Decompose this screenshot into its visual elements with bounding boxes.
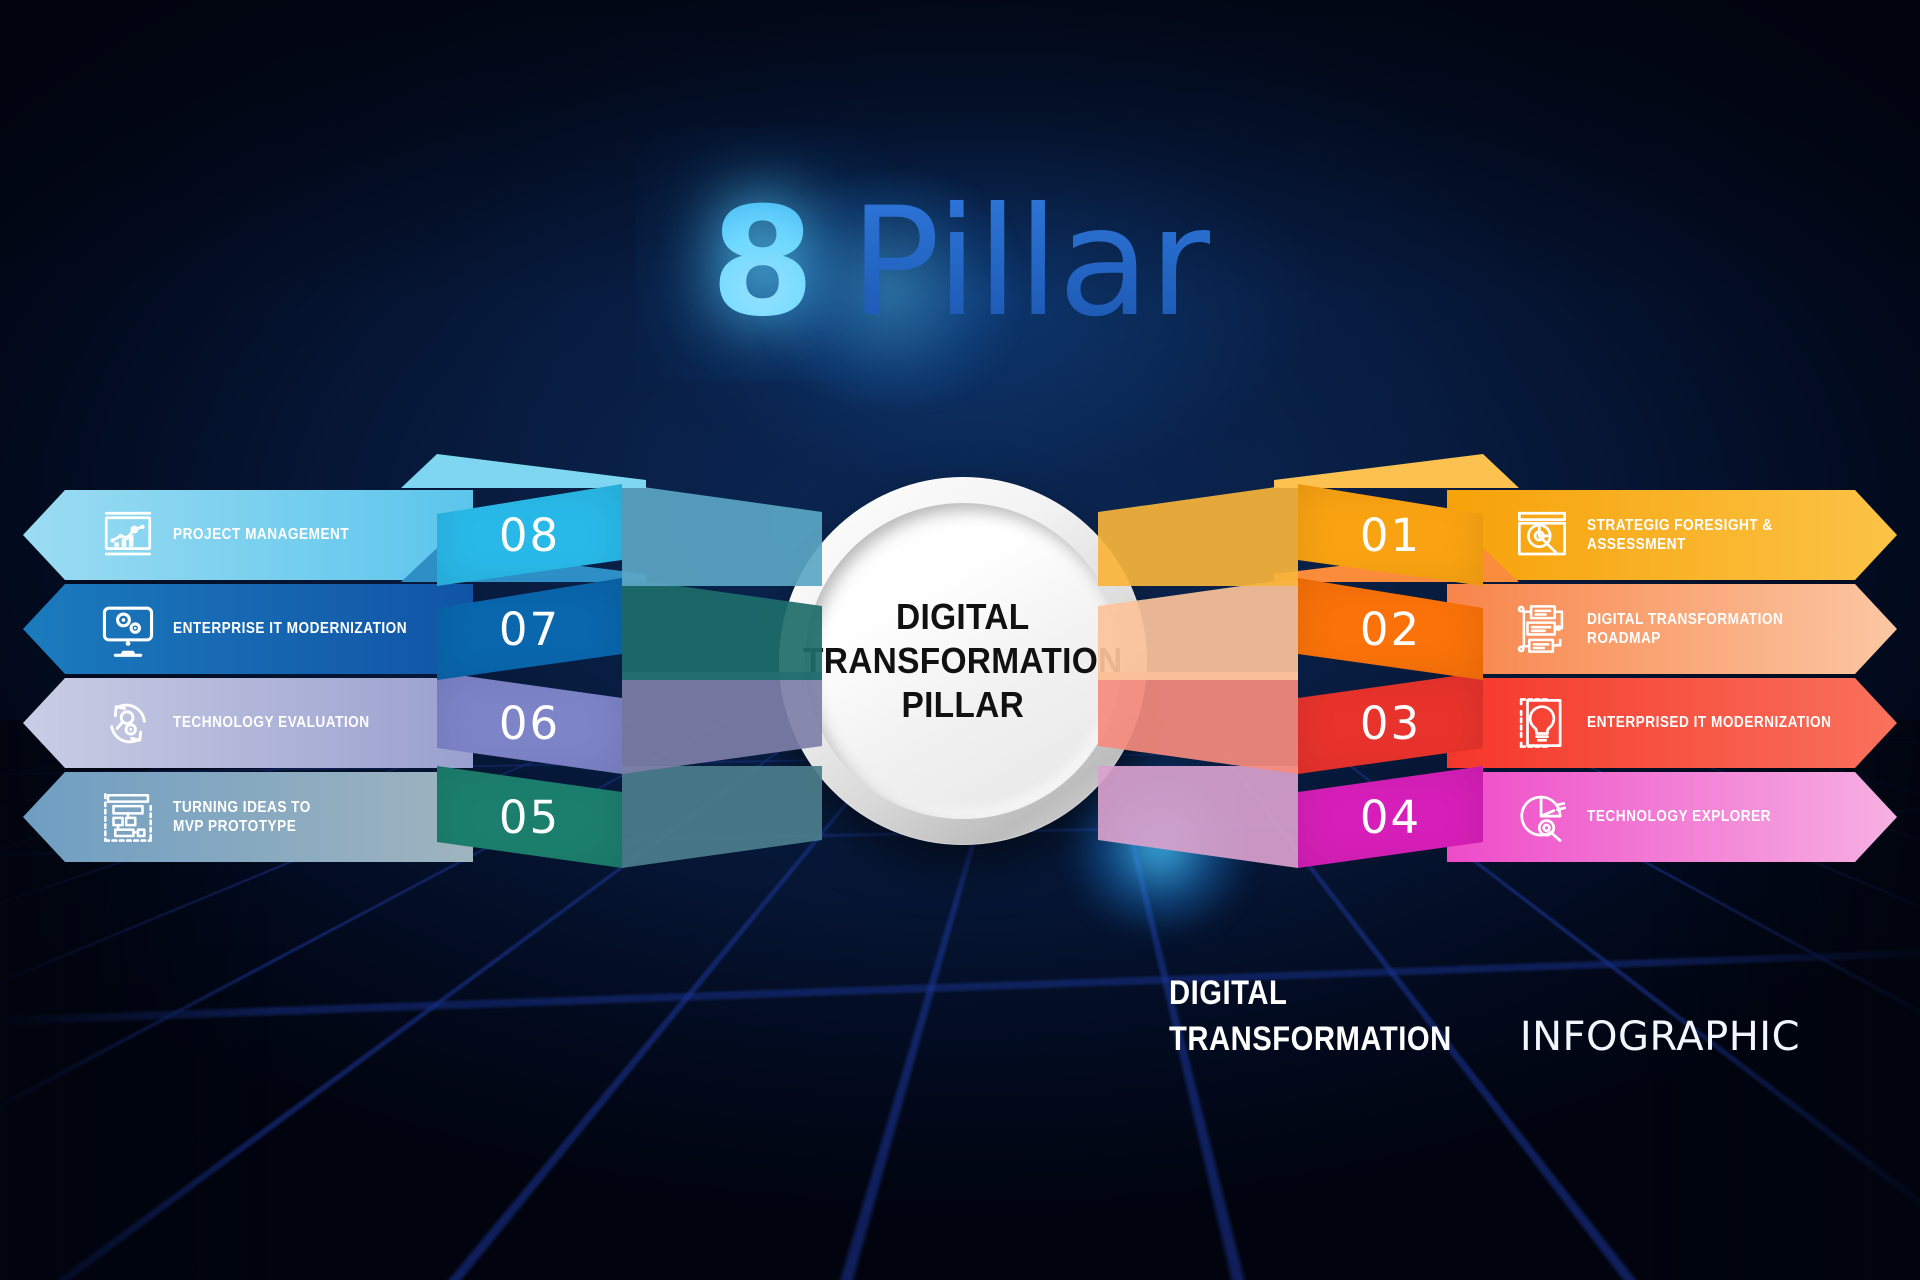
refresh-evaluate-icon [97, 692, 159, 754]
step-bar-01[interactable]: STRATEGIG FORESIGHT & ASSESSMENT [1447, 490, 1897, 580]
step-bar-03[interactable]: ENTERPRISED IT MODERNIZATION [1447, 678, 1897, 768]
center-circle-text: DIGITAL TRANSFORMATION PILLAR [803, 595, 1122, 727]
step-label-08: PROJECT MANAGEMENT [173, 525, 349, 544]
prism-side-face-01 [1098, 484, 1298, 586]
prism-front-face-01[interactable]: 01 [1298, 484, 1483, 586]
step-number-prism-06: 06 [437, 672, 622, 774]
prism-side-face-03 [1098, 672, 1298, 774]
center-line-2: TRANSFORMATION [803, 639, 1122, 683]
prism-front-face-03[interactable]: 03 [1298, 672, 1483, 774]
step-number-prism-02: 02 [1298, 578, 1483, 680]
step-number-01: 01 [1360, 509, 1421, 562]
prism-front-face-04[interactable]: 04 [1298, 766, 1483, 868]
step-bar-04[interactable]: TECHNOLOGY EXPLORER [1447, 772, 1897, 862]
step-label-01: STRATEGIG FORESIGHT & ASSESSMENT [1587, 516, 1860, 555]
step-bar-07[interactable]: ENTERPRISE IT MODERNIZATION [23, 584, 473, 674]
step-bar-02[interactable]: DIGITAL TRANSFORMATION ROADMAP [1447, 584, 1897, 674]
caption-line-2: TRANSFORMATION [1169, 1020, 1452, 1059]
chart-analytics-icon [97, 504, 159, 566]
window-pie-search-icon [1511, 504, 1573, 566]
prism-side-face-08 [622, 484, 822, 586]
step-number-07: 07 [499, 603, 560, 656]
caption-infographic: INFOGRAPHIC [1520, 1014, 1800, 1060]
step-number-03: 03 [1360, 697, 1421, 750]
prism-top-face-01 [1274, 454, 1519, 488]
step-number-prism-05: 05 [437, 766, 622, 868]
step-number-05: 05 [499, 791, 560, 844]
step-label-04: TECHNOLOGY EXPLORER [1587, 807, 1771, 826]
prism-side-face-06 [622, 672, 822, 774]
roadmap-flow-icon [1511, 598, 1573, 660]
step-label-02: DIGITAL TRANSFORMATION ROADMAP [1587, 610, 1860, 649]
prism-top-face-08 [401, 454, 646, 488]
step-number-prism-07: 07 [437, 578, 622, 680]
prism-front-face-08[interactable]: 08 [437, 484, 622, 586]
step-number-04: 04 [1360, 791, 1421, 844]
step-label-07: ENTERPRISE IT MODERNIZATION [173, 619, 407, 638]
step-number-prism-08: 08 [437, 484, 622, 586]
step-label-05: TURNING IDEAS TO MVP PROTOTYPE [173, 798, 311, 837]
step-number-prism-03: 03 [1298, 672, 1483, 774]
center-circle: DIGITAL TRANSFORMATION PILLAR [779, 477, 1147, 845]
prism-front-face-02[interactable]: 02 [1298, 578, 1483, 680]
step-number-prism-01: 01 [1298, 484, 1483, 586]
prism-side-face-05 [622, 766, 822, 868]
step-bar-06[interactable]: TECHNOLOGY EVALUATION [23, 678, 473, 768]
step-number-02: 02 [1360, 603, 1421, 656]
step-label-06: TECHNOLOGY EVALUATION [173, 713, 370, 732]
prism-front-face-06[interactable]: 06 [437, 672, 622, 774]
step-number-06: 06 [499, 697, 560, 750]
monitor-gears-icon [97, 598, 159, 660]
step-number-prism-04: 04 [1298, 766, 1483, 868]
prism-front-face-05[interactable]: 05 [437, 766, 622, 868]
caption-line-1: DIGITAL [1169, 973, 1712, 1014]
infographic-canvas: 8Pillar 08 PROJECT MANAGEMENT07 ENTERPRI… [0, 0, 1920, 1280]
step-bar-05[interactable]: TURNING IDEAS TO MVP PROTOTYPE [23, 772, 473, 862]
center-line-1: DIGITAL [803, 595, 1122, 639]
prism-front-face-07[interactable]: 07 [437, 578, 622, 680]
lightbulb-frame-icon [1511, 692, 1573, 754]
wireframe-prototype-icon [97, 786, 159, 848]
step-bar-08[interactable]: PROJECT MANAGEMENT [23, 490, 473, 580]
center-line-3: PILLAR [803, 683, 1122, 727]
center-circle-inner: DIGITAL TRANSFORMATION PILLAR [805, 503, 1121, 819]
step-label-03: ENTERPRISED IT MODERNIZATION [1587, 713, 1831, 732]
step-number-08: 08 [499, 509, 560, 562]
donut-search-gear-icon [1511, 786, 1573, 848]
footer-caption: DIGITAL TRANSFORMATION INFOGRAPHIC [1169, 973, 1800, 1060]
